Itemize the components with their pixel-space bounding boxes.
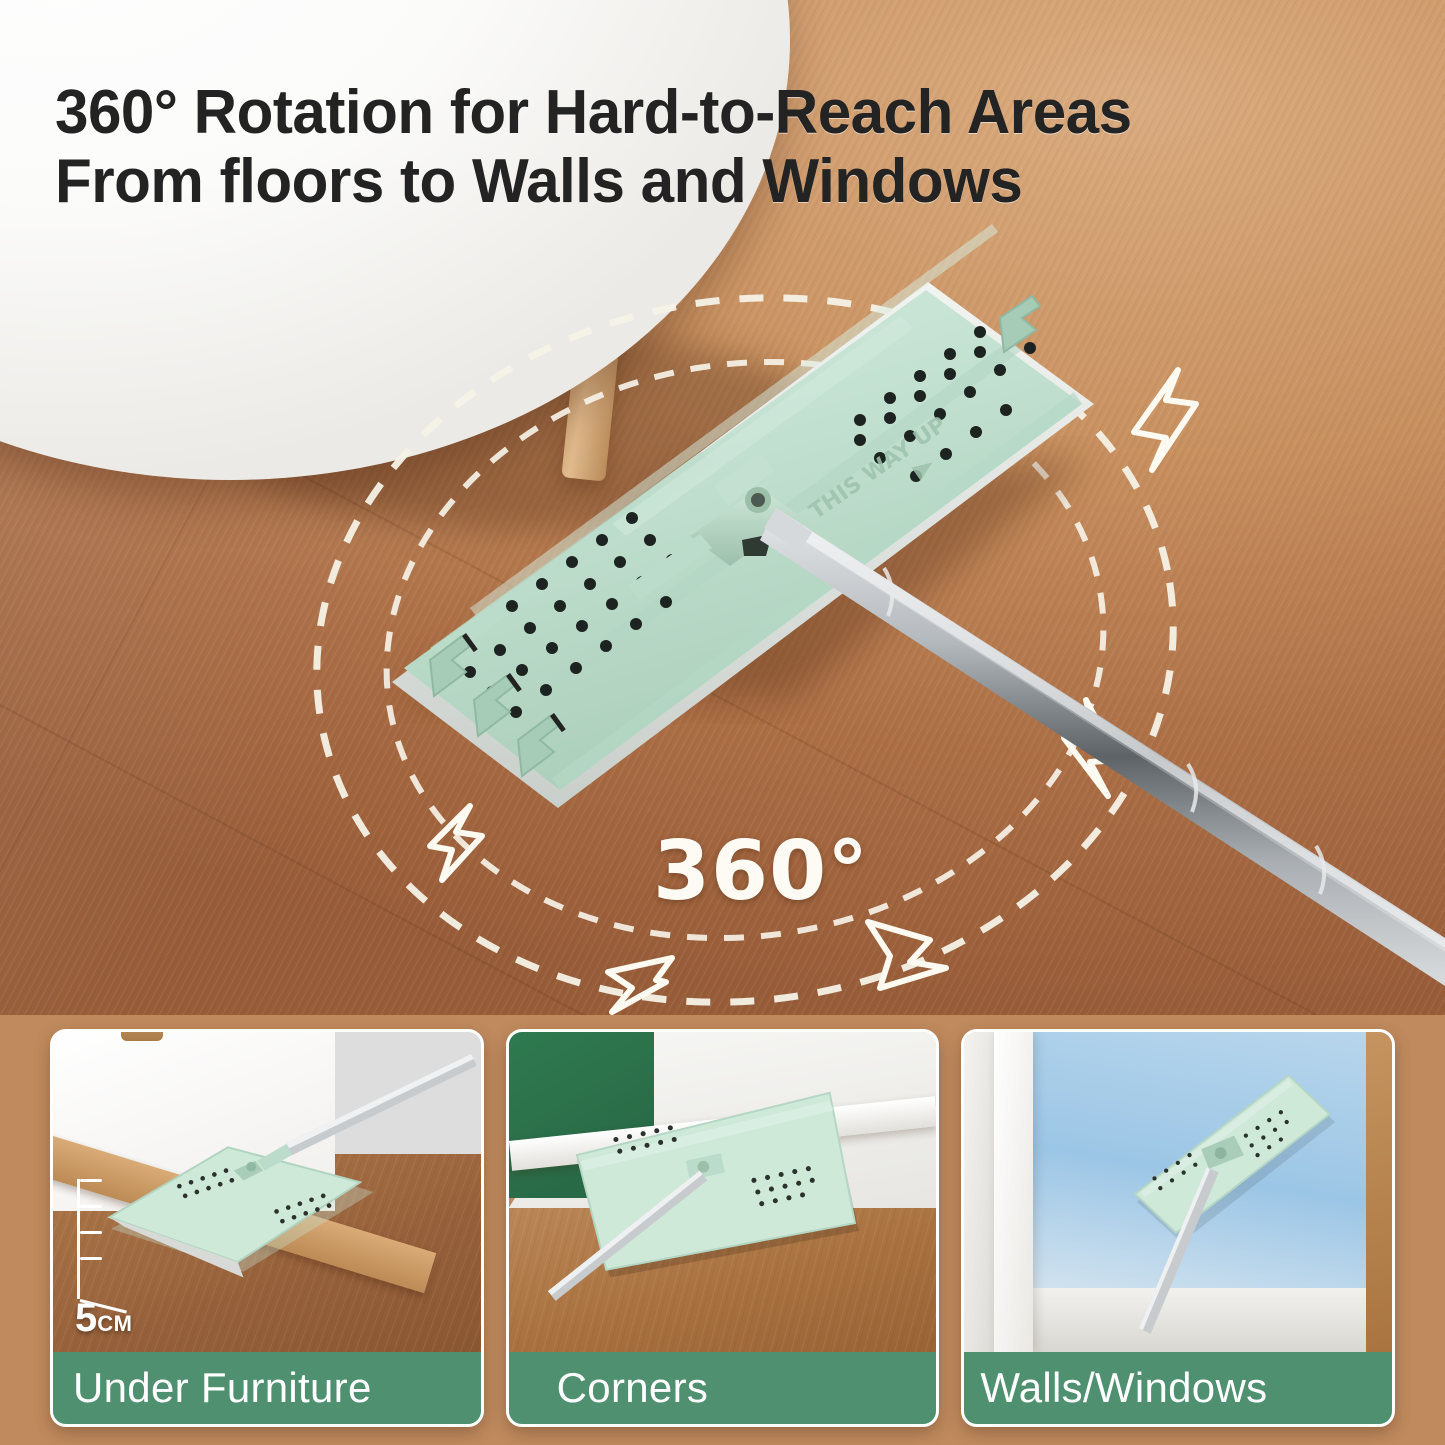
measure-unit: CM [97, 1311, 132, 1336]
panel-1-image: 5CM [53, 1032, 481, 1352]
product-feature-image: THIS WAY UP [0, 0, 1445, 1445]
headline-line-1: 360° Rotation for Hard-to-Reach Areas [55, 78, 1132, 147]
page-title: 360° Rotation for Hard-to-Reach Areas Fr… [55, 78, 1374, 217]
panel-1-caption: Under Furniture [53, 1352, 481, 1424]
panel-2-caption: Corners [509, 1352, 937, 1424]
measure-ruler-icon [77, 1179, 128, 1299]
clearance-measurement: 5CM [75, 1298, 132, 1338]
panel-2-image [509, 1032, 937, 1352]
measure-value: 5 [75, 1296, 97, 1340]
rotation-degree-label: 360° [653, 824, 869, 919]
hero-section: THIS WAY UP [0, 0, 1445, 1015]
headline-line-2: From floors to Walls and Windows [55, 147, 1374, 216]
use-case-panels: 5CM Under Furniture [0, 1015, 1445, 1445]
panel-walls-windows[interactable]: Walls/Windows [961, 1029, 1395, 1427]
panel-under-furniture[interactable]: 5CM Under Furniture [50, 1029, 484, 1427]
panel-corners[interactable]: Corners [506, 1029, 940, 1427]
panel-3-mop [964, 1032, 1392, 1352]
panel-2-mop [509, 1032, 937, 1352]
panel-3-caption: Walls/Windows [964, 1352, 1392, 1424]
panel-3-image [964, 1032, 1392, 1352]
